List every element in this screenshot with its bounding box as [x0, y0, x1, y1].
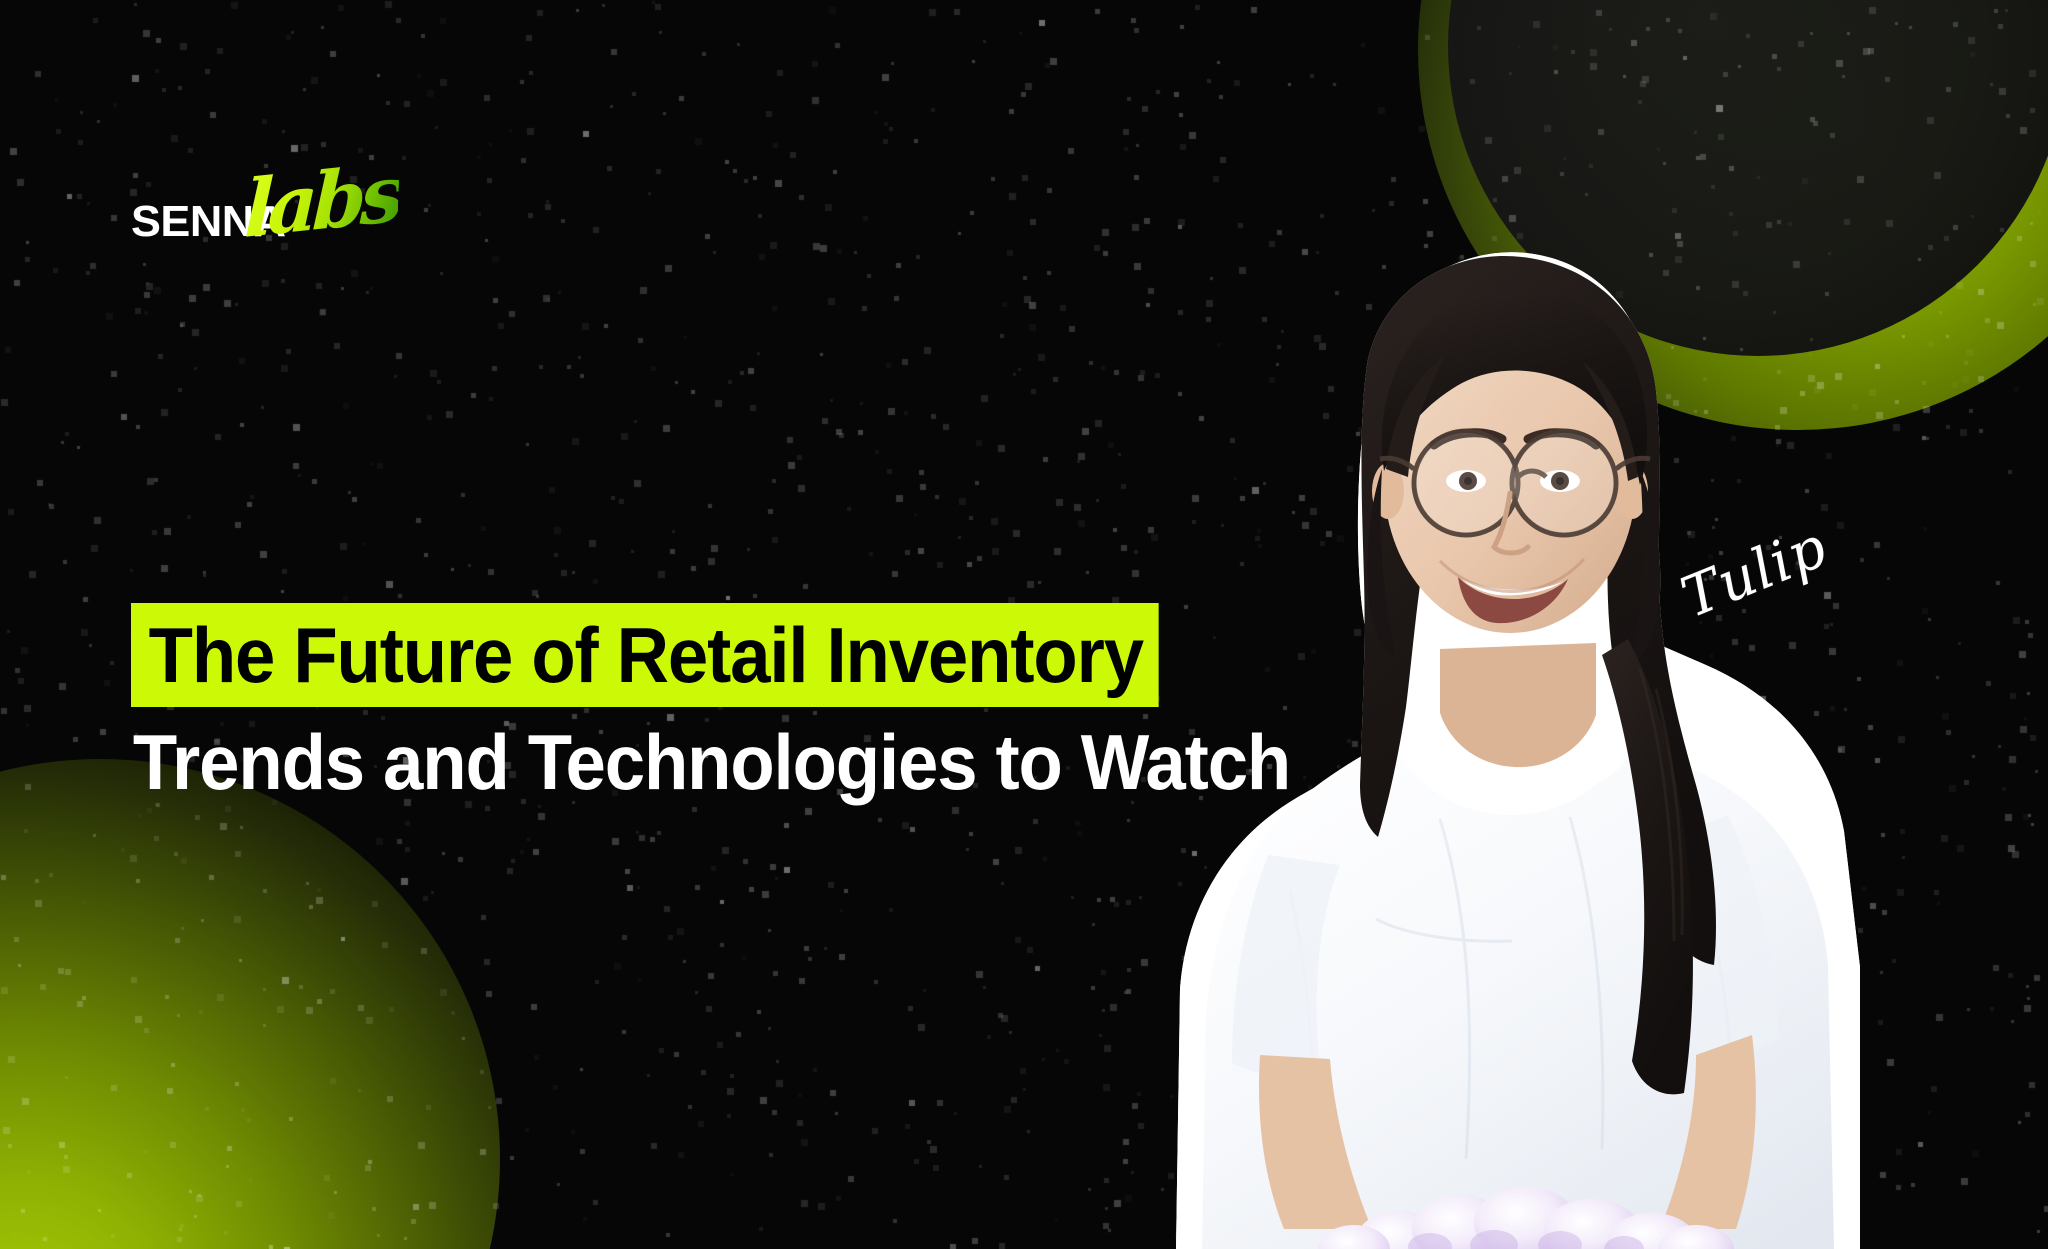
title-line-highlighted: The Future of Retail Inventory: [131, 603, 1159, 707]
hero-banner: SENNA labs The Future of Retail Inventor…: [0, 0, 2048, 1249]
logo-script-labs: labs: [243, 155, 400, 250]
portrait-photo: [1140, 219, 1860, 1249]
title-line-subtitle: Trends and Technologies to Watch: [131, 720, 1247, 804]
brand-logo[interactable]: SENNA labs: [131, 178, 411, 254]
glow-bottom-left: [0, 759, 500, 1249]
